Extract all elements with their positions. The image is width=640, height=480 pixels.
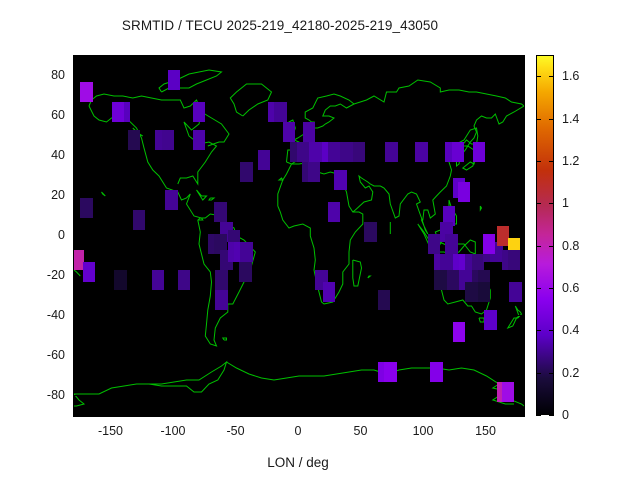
x-tick-mark (111, 55, 112, 61)
coastline-path (479, 318, 484, 322)
coastline-path (353, 106, 524, 234)
colorbar-tick-mark (549, 330, 554, 331)
coastline-path (354, 80, 524, 106)
colorbar-tick-label: 0.6 (562, 281, 579, 295)
x-tick-mark (298, 409, 299, 415)
page-title: SRMTID / TECU 2025-219_42180-2025-219_43… (0, 18, 560, 33)
colorbar-tick-mark (549, 119, 554, 120)
colorbar-tick-mark (536, 76, 541, 77)
colorbar-tick-mark (549, 76, 554, 77)
coastline-path (198, 214, 256, 346)
y-tick-label: 40 (5, 148, 65, 162)
plot-area (73, 55, 525, 417)
x-tick-label: 50 (326, 424, 396, 438)
y-tick-mark (517, 275, 523, 276)
y-tick-mark (517, 355, 523, 356)
y-tick-mark (73, 75, 79, 76)
x-tick-mark (111, 409, 112, 415)
colorbar-tick-mark (536, 161, 541, 162)
y-tick-label: 60 (5, 108, 65, 122)
coastline-path (74, 362, 227, 394)
colorbar: 00.20.40.60.811.21.41.6 (536, 55, 554, 415)
x-tick-label: 0 (263, 424, 333, 438)
coastline-path (289, 120, 295, 136)
x-tick-mark (361, 55, 362, 61)
coastline-path (209, 198, 214, 200)
y-tick-mark (517, 395, 523, 396)
colorbar-tick-label: 1 (562, 196, 569, 210)
y-tick-mark (73, 275, 79, 276)
y-tick-mark (517, 315, 523, 316)
coastline-path (480, 206, 481, 210)
x-tick-label: -50 (201, 424, 271, 438)
colorbar-tick-mark (549, 373, 554, 374)
coastline-path (462, 144, 481, 170)
y-tick-label: -20 (5, 268, 65, 282)
x-tick-mark (173, 409, 174, 415)
colorbar-tick-mark (536, 288, 541, 289)
coastline-path (418, 224, 476, 254)
x-tick-mark (298, 55, 299, 61)
colorbar-tick-mark (536, 203, 541, 204)
x-tick-label: 100 (388, 424, 458, 438)
x-tick-mark (236, 409, 237, 415)
coastline-path (493, 384, 514, 404)
x-tick-mark (486, 55, 487, 61)
colorbar-tick-mark (549, 203, 554, 204)
colorbar-tick-mark (536, 415, 541, 416)
y-tick-label: 0 (5, 228, 65, 242)
y-tick-mark (517, 155, 523, 156)
coastline-path (223, 338, 227, 340)
coastline-path (440, 258, 490, 314)
coastline-path (287, 144, 322, 164)
colorbar-tick-label: 0.8 (562, 239, 579, 253)
colorbar-tick-mark (549, 415, 554, 416)
coastline-path (278, 162, 363, 304)
y-tick-mark (73, 355, 79, 356)
coastline-path (230, 84, 271, 116)
x-axis-label: LON / deg (73, 455, 523, 470)
coastline-path (133, 128, 143, 136)
coastline-path (287, 126, 290, 132)
coastline-path (279, 178, 283, 180)
coastline-path (227, 362, 525, 406)
y-tick-mark (73, 115, 79, 116)
y-tick-mark (517, 235, 523, 236)
y-tick-mark (73, 195, 79, 196)
coastline-path (508, 306, 522, 328)
colorbar-tick-label: 1.2 (562, 154, 579, 168)
coastline-path (89, 106, 203, 220)
coastline-path (197, 190, 207, 200)
x-tick-label: 150 (451, 424, 521, 438)
x-tick-mark (361, 409, 362, 415)
y-tick-label: -80 (5, 388, 65, 402)
x-tick-mark (423, 55, 424, 61)
world-coastlines-map (74, 56, 524, 416)
y-tick-label: 20 (5, 188, 65, 202)
coastline-path (353, 260, 362, 286)
colorbar-tick-mark (536, 330, 541, 331)
x-tick-label: -100 (138, 424, 208, 438)
colorbar-tick-label: 0 (562, 408, 569, 422)
colorbar-tick-mark (549, 288, 554, 289)
coastline-path (368, 276, 371, 278)
colorbar-tick-mark (536, 119, 541, 120)
colorbar-tick-label: 1.6 (562, 69, 579, 83)
colorbar-tick-label: 0.2 (562, 366, 579, 380)
y-tick-mark (73, 315, 79, 316)
x-tick-mark (486, 409, 487, 415)
coastline-path (202, 112, 230, 146)
coastline-path (102, 192, 106, 196)
x-tick-label: -150 (76, 424, 146, 438)
coastline-path (287, 94, 355, 162)
y-tick-mark (517, 75, 523, 76)
y-tick-label: -60 (5, 348, 65, 362)
colorbar-tick-mark (536, 373, 541, 374)
y-tick-label: 80 (5, 68, 65, 82)
x-tick-mark (423, 409, 424, 415)
coastline-path (314, 144, 362, 160)
y-tick-label: -40 (5, 308, 65, 322)
colorbar-tick-label: 1.4 (562, 112, 579, 126)
y-tick-mark (73, 155, 79, 156)
colorbar-tick-mark (549, 246, 554, 247)
colorbar-tick-label: 0.4 (562, 323, 579, 337)
coastline-path (159, 70, 222, 92)
y-tick-mark (73, 395, 79, 396)
y-tick-mark (517, 115, 523, 116)
chart-page: SRMTID / TECU 2025-219_42180-2025-219_43… (0, 0, 640, 480)
coastline-path (264, 158, 268, 160)
y-tick-mark (517, 195, 523, 196)
x-tick-mark (173, 55, 174, 61)
coastline-path (449, 200, 457, 224)
y-tick-mark (73, 235, 79, 236)
colorbar-gradient (536, 55, 554, 415)
colorbar-tick-mark (549, 161, 554, 162)
coastline-path (272, 104, 282, 108)
colorbar-tick-mark (536, 246, 541, 247)
x-tick-mark (236, 55, 237, 61)
